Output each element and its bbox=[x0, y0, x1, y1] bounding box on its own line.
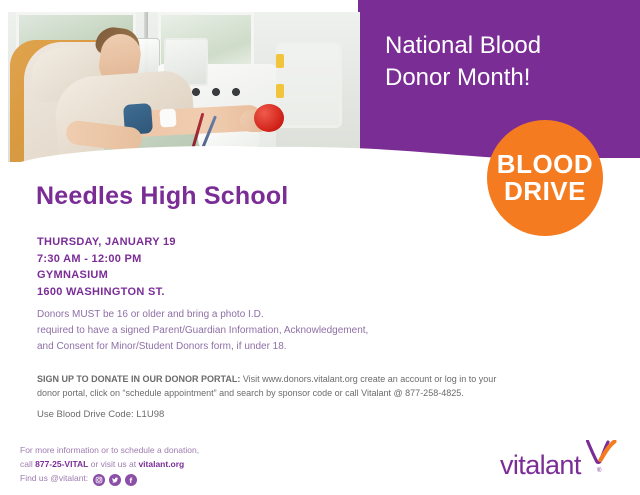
vitalant-swoosh-icon bbox=[584, 440, 618, 466]
headline-line-2: Donor Month! bbox=[385, 62, 615, 94]
footer-line-2: call 877-25-VITAL or visit us at vitalan… bbox=[20, 458, 199, 472]
organization-name: Needles High School bbox=[36, 182, 288, 211]
eligibility-line-1: Donors MUST be 16 or older and bring a p… bbox=[37, 307, 368, 323]
footer-call-prefix: call bbox=[20, 459, 35, 469]
photo-squeeze-ball bbox=[254, 104, 284, 132]
footer-website: vitalant.org bbox=[138, 459, 184, 469]
blood-drive-flyer: National Blood Donor Month! BLOOD DRIVE … bbox=[0, 0, 640, 495]
headline-line-1: National Blood bbox=[385, 30, 615, 62]
donor-portal-instructions: SIGN UP TO DONATE IN OUR DONOR PORTAL: V… bbox=[37, 373, 507, 400]
social-icons bbox=[93, 474, 137, 486]
photo-needle-tape bbox=[159, 108, 176, 127]
footer-call-middle: or visit us at bbox=[88, 459, 138, 469]
vitalant-trademark: ® bbox=[597, 468, 601, 474]
event-time: 7:30 AM - 12:00 PM bbox=[37, 251, 176, 268]
footer-phone: 877-25-VITAL bbox=[35, 459, 88, 469]
event-location: GYMNASIUM bbox=[37, 267, 176, 284]
instagram-icon[interactable] bbox=[93, 474, 105, 486]
footer-line-3: Find us @vitalant: bbox=[20, 472, 199, 486]
twitter-icon[interactable] bbox=[109, 474, 121, 486]
photo-yellow-clip-lower bbox=[276, 84, 284, 98]
blood-drive-badge: BLOOD DRIVE bbox=[487, 120, 603, 236]
footer-contact: For more information or to schedule a do… bbox=[20, 444, 199, 486]
donor-portal-label: SIGN UP TO DONATE IN OUR DONOR PORTAL: bbox=[37, 374, 240, 384]
footer-line-1: For more information or to schedule a do… bbox=[20, 444, 199, 458]
facebook-icon[interactable] bbox=[125, 474, 137, 486]
footer-find-us: Find us @vitalant: bbox=[20, 473, 88, 483]
event-address: 1600 WASHINGTON ST. bbox=[37, 284, 176, 301]
photo-yellow-clip-upper bbox=[276, 54, 284, 68]
vitalant-wordmark: vitalant bbox=[500, 450, 581, 481]
badge-line-2: DRIVE bbox=[504, 178, 586, 205]
blood-drive-code: Use Blood Drive Code: L1U98 bbox=[37, 409, 164, 420]
event-details: THURSDAY, JANUARY 19 7:30 AM - 12:00 PM … bbox=[37, 234, 176, 301]
event-date: THURSDAY, JANUARY 19 bbox=[37, 234, 176, 251]
headline: National Blood Donor Month! bbox=[385, 30, 615, 93]
eligibility-notice: Donors MUST be 16 or older and bring a p… bbox=[37, 307, 368, 354]
vitalant-logo: vitalant ® bbox=[500, 444, 620, 482]
blood-donation-photo bbox=[8, 12, 360, 162]
badge-line-1: BLOOD bbox=[497, 151, 593, 178]
eligibility-line-2: required to have a signed Parent/Guardia… bbox=[37, 323, 368, 339]
eligibility-line-3: and Consent for Minor/Student Donors for… bbox=[37, 339, 368, 355]
photo-equipment-rail bbox=[276, 42, 342, 128]
